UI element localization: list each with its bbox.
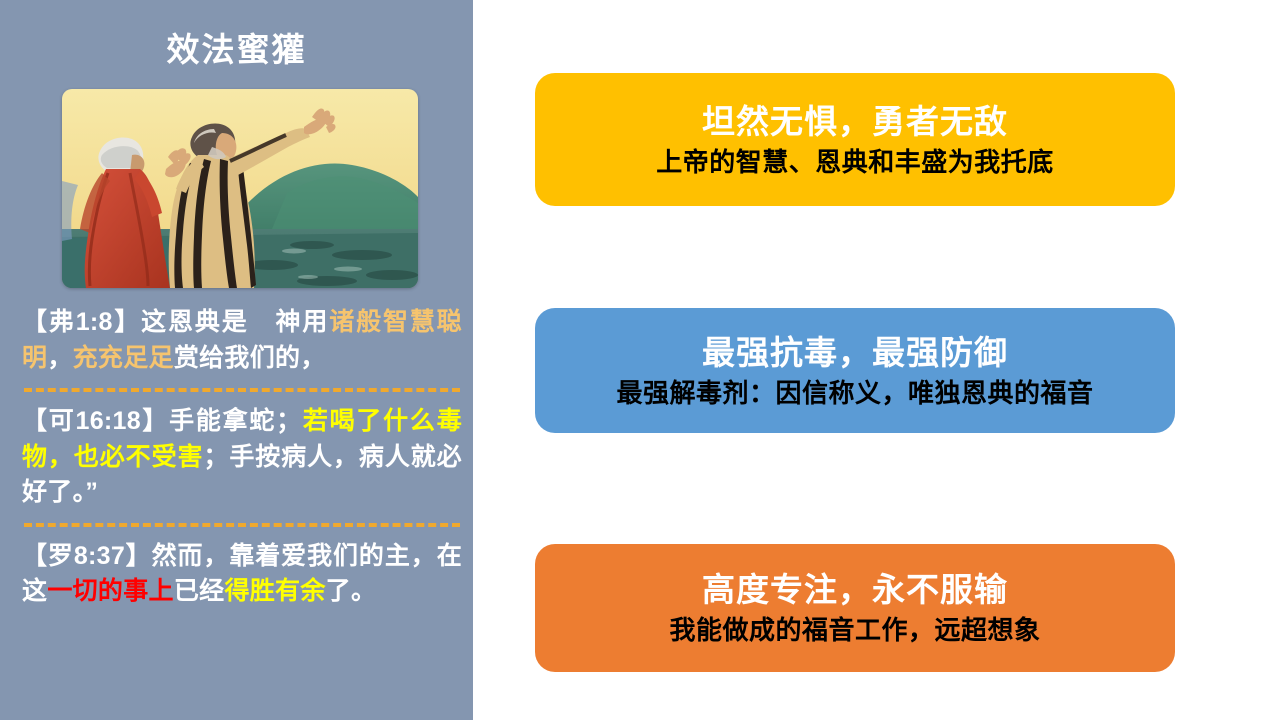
- callout-list: 坦然无惧，勇者无敌 上帝的智慧、恩典和丰盛为我托底 最强抗毒，最强防御 最强解毒…: [535, 0, 1175, 720]
- sidebar-panel: 效法蜜獾: [0, 0, 473, 720]
- callout-antidote[interactable]: 最强抗毒，最强防御 最强解毒剂：因信称义，唯独恩典的福音: [535, 308, 1175, 433]
- callout-subline: 最强解毒剂：因信称义，唯独恩典的福音: [616, 377, 1093, 410]
- callout-headline: 最强抗毒，最强防御: [702, 332, 1008, 373]
- callout-subline: 上帝的智慧、恩典和丰盛为我托底: [656, 146, 1054, 179]
- presentation-slide: 效法蜜獾: [0, 0, 1280, 720]
- callout-subline: 我能做成的福音工作，远超想象: [669, 614, 1040, 647]
- illustration-artwork: [62, 89, 418, 288]
- verse-rom-8-37: 【罗8:37】然而，靠着爱我们的主，在这一切的事上已经得胜有余了。: [22, 539, 462, 610]
- page-title: 效法蜜獾: [0, 30, 473, 70]
- dashed-divider-1: [24, 388, 460, 392]
- scripture-list: 【弗1:8】这恩典是 神用诸般智慧聪明，充充足足赏给我们的， 【可16:18】手…: [22, 305, 462, 610]
- verse-segment: ，: [47, 344, 72, 372]
- two-men-pointing-at-hills-illustration: [62, 89, 418, 288]
- verse-segment: 了。: [326, 577, 377, 605]
- verse-highlight: 充充足足: [73, 344, 174, 372]
- callout-headline: 高度专注，永不服输: [702, 569, 1008, 610]
- verse-segment: 赏给我们的，: [174, 344, 326, 372]
- verse-segment: 【可16:18】手能拿蛇；: [22, 407, 301, 435]
- verse-segment: 已经: [174, 577, 225, 605]
- verse-segment: 【弗1:8】这恩典是 神用: [22, 308, 329, 336]
- verse-highlight: 得胜有余: [224, 577, 325, 605]
- callout-focus[interactable]: 高度专注，永不服输 我能做成的福音工作，远超想象: [535, 544, 1175, 672]
- verse-highlight: 一切的事上: [47, 577, 174, 605]
- verse-mark-16-18: 【可16:18】手能拿蛇；若喝了什么毒物，也必不受害；手按病人，病人就必好了。”: [22, 404, 462, 511]
- verse-eph-1-8: 【弗1:8】这恩典是 神用诸般智慧聪明，充充足足赏给我们的，: [22, 305, 462, 376]
- dashed-divider-2: [24, 523, 460, 527]
- callout-boldness[interactable]: 坦然无惧，勇者无敌 上帝的智慧、恩典和丰盛为我托底: [535, 73, 1175, 206]
- callout-headline: 坦然无惧，勇者无敌: [702, 101, 1008, 142]
